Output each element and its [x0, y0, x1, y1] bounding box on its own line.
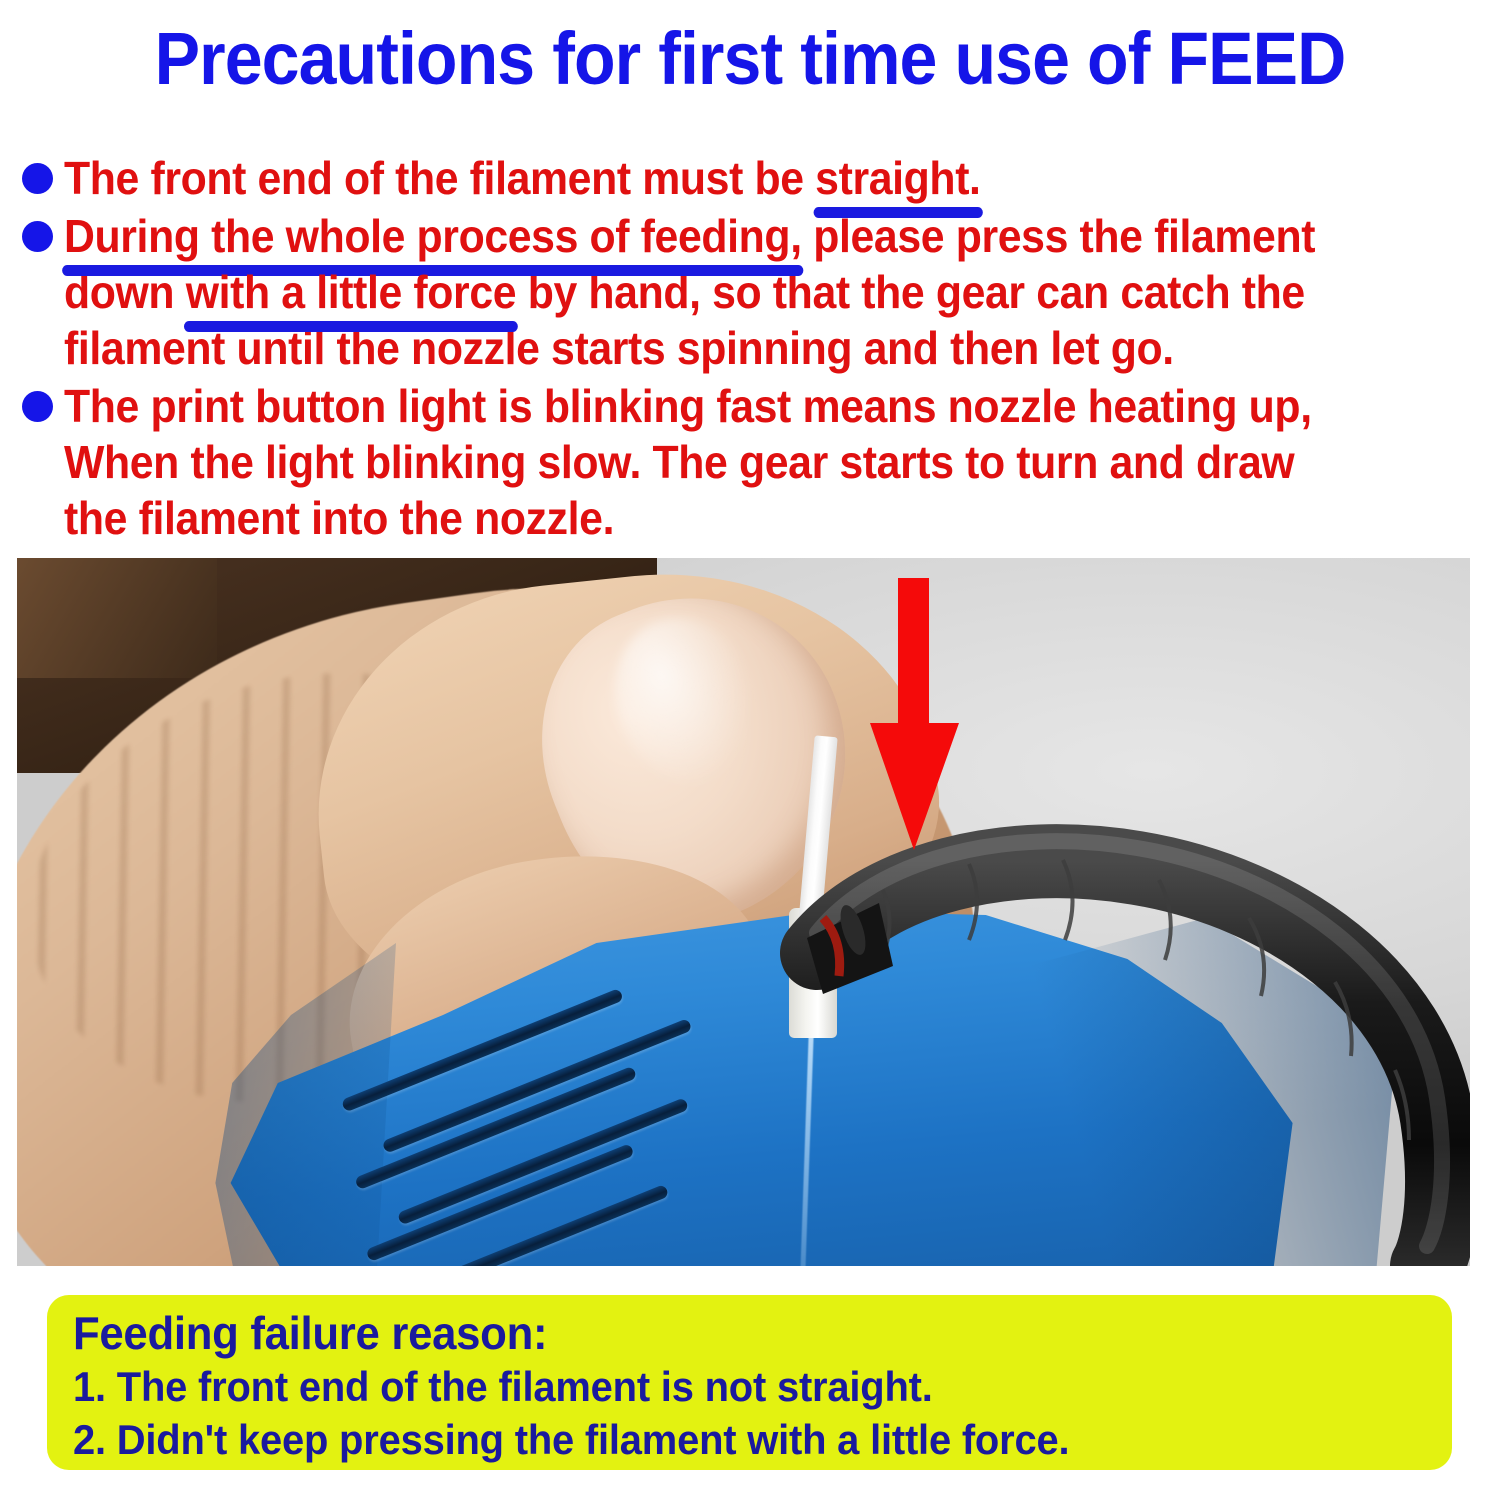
failure-reason-box: Feeding failure reason: 1. The front end…: [47, 1295, 1452, 1470]
text-run: When the light blinking slow. The gear s…: [64, 436, 1294, 488]
down-arrow-annotation: [856, 578, 986, 868]
failure-reason-title: Feeding failure reason:: [73, 1307, 1383, 1360]
text-run: The print button light is blinking fast …: [64, 380, 1312, 432]
underlined-phrase: with a little force: [186, 264, 516, 320]
underlined-phrase: straight.: [815, 150, 980, 206]
failure-reason-item: 1. The front end of the filament is not …: [73, 1360, 1383, 1413]
bullet-text: The front end of the filament must be st…: [64, 150, 1386, 206]
bullet-dot-icon: [22, 163, 53, 194]
bullet-dot-icon: [22, 221, 53, 252]
text-run: The front end of the filament must be: [64, 152, 815, 204]
text-run: please press the filament: [802, 210, 1315, 262]
list-item: The print button light is blinking fast …: [16, 378, 1486, 546]
bullet-dot-icon: [22, 391, 53, 422]
list-item: The front end of the filament must be st…: [16, 150, 1486, 206]
precautions-list: The front end of the filament must be st…: [16, 150, 1486, 548]
underlined-phrase: During the whole process of feeding,: [64, 208, 802, 264]
text-run: the filament into the nozzle.: [64, 492, 614, 544]
failure-reason-item: 2. Didn't keep pressing the filament wit…: [73, 1413, 1383, 1466]
instruction-photo: [17, 558, 1470, 1266]
black-spiral-cable: [17, 558, 1470, 1266]
bullet-text: During the whole process of feeding, ple…: [64, 208, 1386, 376]
list-item: During the whole process of feeding, ple…: [16, 208, 1486, 376]
page-title: Precautions for first time use of FEED: [60, 22, 1440, 96]
bullet-text: The print button light is blinking fast …: [64, 378, 1386, 546]
